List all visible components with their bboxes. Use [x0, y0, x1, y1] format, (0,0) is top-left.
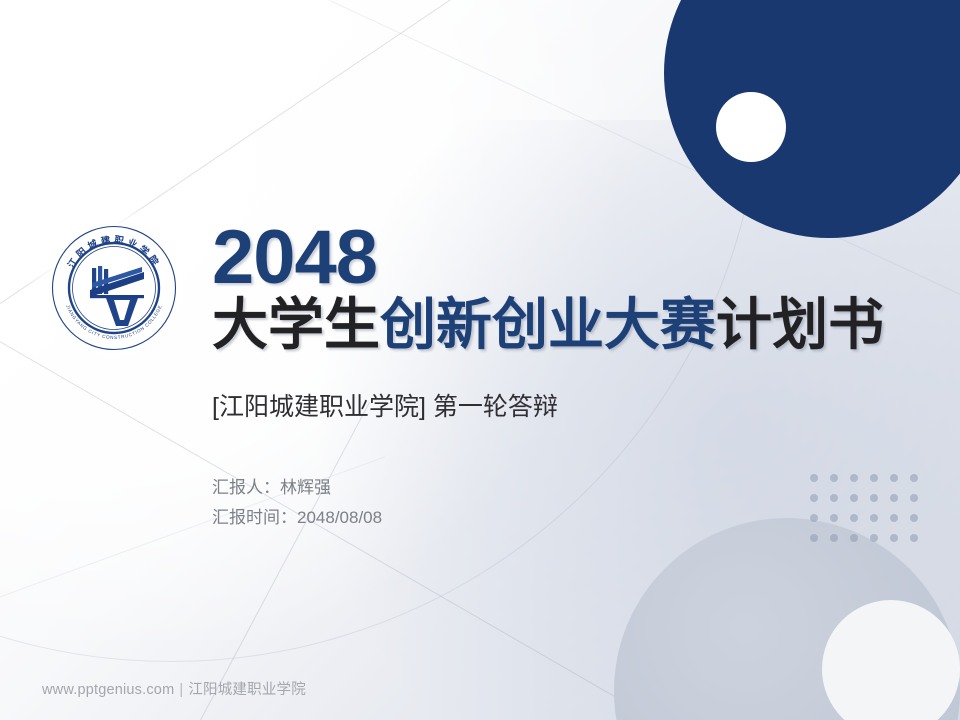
presentation-slide: 江阳城建职业学院 JIANGYANG CITY CONSTRUCTION COL… — [0, 0, 960, 720]
date-line: 汇报时间：2048/08/08 — [212, 503, 932, 532]
navy-circle-decoration — [664, 0, 960, 238]
year-heading: 2048 — [212, 222, 932, 293]
footer-organization: 江阳城建职业学院 — [188, 682, 306, 698]
grid-dot — [910, 534, 918, 542]
headline-segment-3: 计划书 — [716, 293, 884, 356]
meta-block: 汇报人：林辉强 汇报时间：2048/08/08 — [212, 473, 932, 531]
footer-site[interactable]: www.pptgenius.com — [42, 682, 174, 698]
title-block: 2048 大学生创新创业大赛计划书 [江阳城建职业学院] 第一轮答辩 汇报人：林… — [212, 222, 932, 532]
grid-dot — [830, 534, 838, 542]
grid-dot — [890, 534, 898, 542]
footer: www.pptgenius.com|江阳城建职业学院 — [42, 678, 306, 699]
grid-dot — [810, 534, 818, 542]
grid-dot — [850, 534, 858, 542]
presenter-line: 汇报人：林辉强 — [212, 473, 932, 502]
headline-segment-1: 大学生 — [212, 293, 380, 356]
college-seal-icon: 江阳城建职业学院 JIANGYANG CITY CONSTRUCTION COL… — [48, 222, 180, 354]
main-headline: 大学生创新创业大赛计划书 — [212, 295, 932, 354]
white-circle-top-decoration — [716, 92, 786, 162]
subtitle: [江阳城建职业学院] 第一轮答辩 — [212, 391, 932, 424]
college-logo: 江阳城建职业学院 JIANGYANG CITY CONSTRUCTION COL… — [48, 222, 180, 354]
headline-segment-2: 创新创业大赛 — [380, 293, 716, 356]
footer-separator: | — [179, 682, 183, 698]
grid-dot — [870, 534, 878, 542]
